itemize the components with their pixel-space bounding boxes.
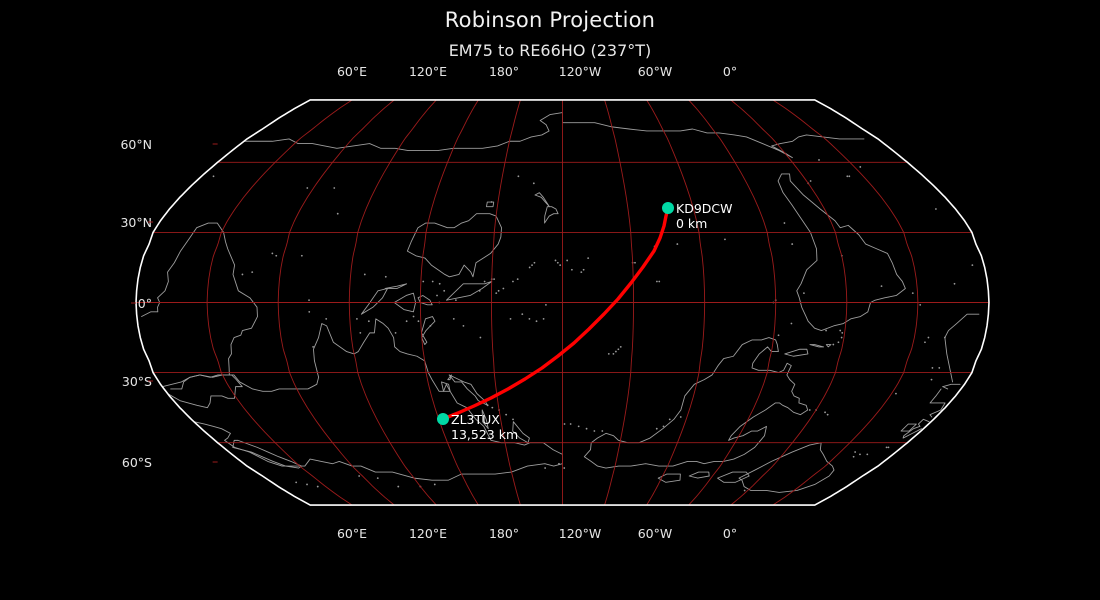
island-speck	[308, 299, 310, 301]
island-speck	[854, 451, 856, 453]
island-speck	[587, 257, 589, 259]
island-speck	[580, 271, 582, 273]
island-speck	[564, 423, 566, 425]
island-speck	[586, 428, 588, 430]
island-speck	[308, 311, 310, 313]
tick-label-top-2: 180°	[489, 64, 519, 79]
island-speck	[306, 187, 308, 189]
island-speck	[912, 292, 914, 294]
island-speck	[502, 288, 504, 290]
island-speck	[271, 253, 273, 255]
island-speck	[825, 330, 827, 332]
island-speck	[784, 222, 786, 224]
map-figure: Robinson Projection EM75 to RE66HO (237°…	[0, 0, 1100, 600]
coastline	[923, 419, 929, 421]
coastline	[943, 387, 948, 389]
island-speck	[954, 283, 956, 285]
tick-label-left-2: 0°	[138, 296, 152, 311]
tick-label-top-5: 0°	[723, 64, 737, 79]
island-speck	[859, 166, 861, 168]
coastline	[778, 174, 905, 331]
station-label-kd9dcw: KD9DCW	[676, 201, 733, 216]
island-speck	[493, 278, 495, 280]
island-speck	[866, 453, 868, 455]
coastline	[718, 472, 750, 482]
tick-label-bottom-1: 120°E	[409, 526, 447, 541]
island-speck	[368, 320, 370, 322]
island-speck	[531, 264, 533, 266]
island-speck	[615, 351, 617, 353]
tick-label-bottom-4: 60°W	[638, 526, 673, 541]
island-speck	[491, 201, 493, 203]
island-speck	[824, 411, 826, 413]
island-speck	[333, 187, 335, 189]
station-marker-kd9dcw[interactable]	[662, 202, 674, 214]
island-speck	[242, 274, 244, 276]
island-speck	[544, 467, 546, 469]
island-speck	[498, 290, 500, 292]
island-speck	[463, 325, 465, 327]
island-speck	[356, 318, 358, 320]
island-speck	[608, 353, 610, 355]
island-speck	[543, 318, 545, 320]
island-speck	[919, 304, 921, 306]
tick-label-left-3: 30°S	[122, 374, 152, 389]
island-speck	[832, 344, 834, 346]
island-speck	[317, 486, 319, 488]
island-speck	[337, 213, 339, 215]
tick-label-left-1: 30°N	[120, 215, 152, 230]
island-speck	[663, 425, 665, 427]
island-speck	[517, 175, 519, 177]
island-speck	[358, 475, 360, 477]
island-speck	[810, 180, 812, 182]
island-speck	[886, 446, 888, 448]
island-speck	[558, 463, 560, 465]
coastline	[361, 288, 387, 314]
coastline	[826, 345, 831, 347]
island-speck	[377, 477, 379, 479]
island-speck	[397, 486, 399, 488]
tick-label-bottom-0: 60°E	[337, 526, 367, 541]
island-speck	[613, 353, 615, 355]
island-speck	[359, 332, 361, 334]
island-speck	[593, 430, 595, 432]
coastline	[689, 472, 709, 478]
island-speck	[406, 320, 408, 322]
island-speck	[487, 404, 489, 406]
robinson-map-canvas: KD9DCW0 kmZL3TUX13,523 km 60°E120°E180°1…	[0, 0, 1100, 600]
island-speck	[533, 182, 535, 184]
island-speck	[827, 414, 829, 416]
island-speck	[944, 337, 946, 339]
coastline	[930, 389, 945, 417]
tick-label-bottom-5: 0°	[723, 526, 737, 541]
island-speck	[534, 262, 536, 264]
island-speck	[563, 467, 565, 469]
island-speck	[484, 281, 486, 283]
tick-label-top-3: 120°W	[559, 64, 601, 79]
tick-label-top-1: 120°E	[409, 64, 447, 79]
great-circle-path	[443, 208, 668, 419]
island-speck	[453, 318, 455, 320]
island-speck	[495, 292, 497, 294]
tick-label-top-4: 60°W	[638, 64, 673, 79]
island-speck	[841, 332, 843, 334]
island-speck	[658, 281, 660, 283]
station-label-zl3tux: ZL3TUX	[451, 412, 500, 427]
island-speck	[928, 337, 930, 339]
coastline	[142, 223, 258, 387]
island-speck	[924, 341, 926, 343]
island-speck	[436, 295, 438, 297]
island-speck	[512, 418, 514, 420]
island-speck	[505, 414, 507, 416]
coastline	[194, 319, 563, 480]
island-speck	[778, 334, 780, 336]
island-speck	[213, 175, 215, 177]
island-speck	[938, 367, 940, 369]
island-speck	[536, 320, 538, 322]
island-speck	[570, 423, 572, 425]
tick-label-top-0: 60°E	[337, 64, 367, 79]
island-speck	[395, 332, 397, 334]
island-speck	[275, 255, 277, 257]
island-speck	[617, 348, 619, 350]
island-speck	[251, 271, 253, 273]
island-speck	[634, 262, 636, 264]
tick-label-bottom-3: 120°W	[559, 526, 601, 541]
island-speck	[529, 318, 531, 320]
coastline	[545, 207, 559, 223]
island-speck	[818, 159, 820, 161]
island-speck	[848, 175, 850, 177]
island-speck	[430, 325, 432, 327]
island-speck	[312, 346, 314, 348]
island-speck	[881, 285, 883, 287]
island-speck	[888, 446, 890, 448]
coastline	[903, 419, 923, 438]
coastline	[563, 123, 864, 158]
island-speck	[791, 243, 793, 245]
island-speck	[491, 407, 493, 409]
island-speck	[656, 428, 658, 430]
marker-layer: KD9DCW0 kmZL3TUX13,523 km	[437, 201, 733, 442]
island-speck	[422, 281, 424, 283]
island-speck	[971, 264, 973, 266]
coastline	[486, 202, 493, 207]
island-speck	[744, 490, 746, 492]
coastline	[168, 375, 243, 408]
island-speck	[676, 243, 678, 245]
station-marker-zl3tux[interactable]	[437, 413, 449, 425]
island-speck	[680, 416, 682, 418]
island-speck	[439, 283, 441, 285]
island-speck	[583, 269, 585, 271]
tick-label-left-0: 60°N	[120, 137, 152, 152]
tick-label-bottom-2: 180°	[489, 526, 519, 541]
coastline	[810, 345, 824, 347]
island-speck	[510, 318, 512, 320]
island-speck	[306, 484, 308, 486]
island-speck	[935, 208, 937, 210]
island-speck	[517, 278, 519, 280]
island-speck	[480, 337, 482, 339]
island-speck	[809, 409, 811, 411]
island-speck	[557, 262, 559, 264]
island-speck	[432, 281, 434, 283]
island-speck	[838, 341, 840, 343]
island-speck	[895, 393, 897, 395]
island-speck	[853, 456, 855, 458]
coastline	[421, 317, 435, 345]
station-distance-kd9dcw: 0 km	[676, 216, 707, 231]
island-speck	[529, 267, 531, 269]
graticule-layer	[136, 100, 989, 505]
island-speck	[479, 290, 481, 292]
island-speck	[724, 239, 726, 241]
island-speck	[443, 290, 445, 292]
island-speck	[559, 264, 561, 266]
island-speck	[841, 337, 843, 339]
great-circle-path-layer	[443, 208, 668, 419]
station-distance-zl3tux: 13,523 km	[451, 427, 518, 442]
island-speck	[325, 318, 327, 320]
island-speck	[418, 320, 420, 322]
island-speck	[578, 425, 580, 427]
island-speck	[803, 292, 805, 294]
island-speck	[413, 316, 415, 318]
coastline	[943, 384, 960, 386]
island-speck	[521, 313, 523, 315]
island-speck	[601, 430, 603, 432]
coastline	[901, 424, 916, 431]
island-speck	[566, 260, 568, 262]
island-speck	[839, 330, 841, 332]
coastline	[785, 349, 808, 356]
island-speck	[932, 367, 934, 369]
island-speck	[846, 175, 848, 177]
island-speck	[295, 481, 297, 483]
tick-label-left-4: 60°S	[122, 455, 152, 470]
island-speck	[555, 260, 557, 262]
island-speck	[434, 484, 436, 486]
coastline	[945, 314, 979, 337]
coastline	[584, 338, 807, 469]
island-speck	[571, 269, 573, 271]
island-speck	[791, 323, 793, 325]
island-speck	[931, 379, 933, 381]
island-speck	[512, 281, 514, 283]
island-speck	[455, 299, 457, 301]
island-speck	[301, 255, 303, 257]
coastline	[945, 338, 953, 382]
coastline	[446, 281, 491, 300]
coastline	[385, 284, 406, 289]
island-speck	[364, 274, 366, 276]
island-speck	[385, 276, 387, 278]
island-speck	[669, 418, 671, 420]
island-speck	[545, 304, 547, 306]
island-speck	[859, 453, 861, 455]
island-speck	[620, 346, 622, 348]
island-speck	[656, 281, 658, 283]
coastline	[535, 193, 549, 207]
